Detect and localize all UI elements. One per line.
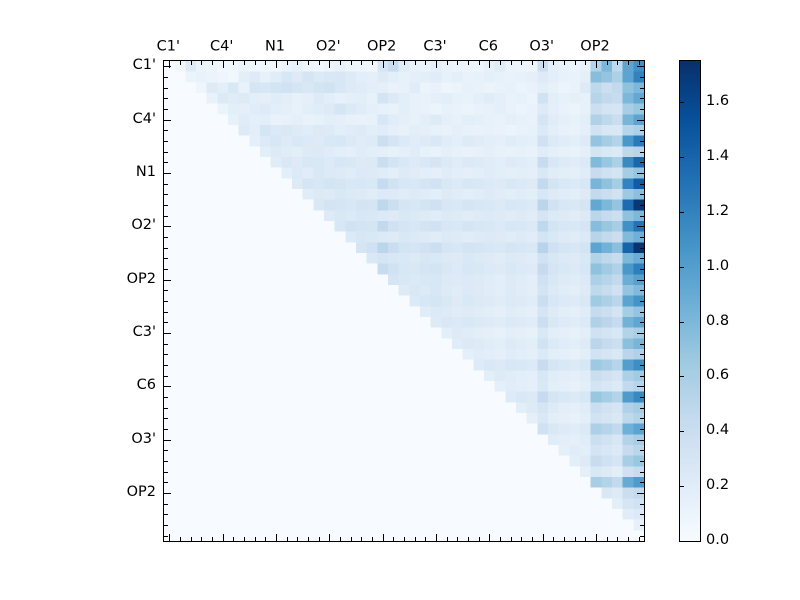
y-tick-label: C4' [133,111,156,126]
x-tick-label: C4' [210,40,233,55]
x-tick-label: OP2 [580,40,609,55]
colorbar-tick [680,157,684,158]
colorbar-tick-label: 0.0 [706,533,729,548]
colorbar-axes [679,60,701,542]
x-tick-label: C3' [423,40,446,55]
x-tick-label: C1' [157,40,180,55]
colorbar-tick-label: 0.8 [706,313,729,328]
y-tick-label: OP2 [127,271,156,286]
y-tick-label: C1' [133,58,156,73]
colorbar-tick [680,102,684,103]
colorbar-tick-label: 0.4 [706,423,729,438]
colorbar-tick-label: 0.6 [706,368,729,383]
colorbar-tick [680,431,684,432]
y-tick-label: C6 [137,378,156,393]
colorbar-tick [680,376,684,377]
x-tick-label: OP2 [367,40,396,55]
colorbar-tick [680,541,684,542]
colorbar-tick [680,486,684,487]
x-tick-label: N1 [265,40,285,55]
y-tick-label: C3' [133,325,156,340]
x-tick-label: C6 [479,40,498,55]
colorbar-tick [680,212,684,213]
colorbar-tick-label: 1.2 [706,204,729,219]
colorbar-tick [680,267,684,268]
colorbar-tick-label: 1.0 [706,258,729,273]
x-tick-label: O3' [529,40,554,55]
y-tick-label: O2' [131,218,156,233]
colorbar-tick [680,322,684,323]
colorbar-gradient [680,61,700,541]
figure-canvas: C1'C4'N1O2'OP2C3'C6O3'OP2 C1'C4'N1O2'OP2… [0,0,800,600]
colorbar-tick-label: 1.6 [706,94,729,109]
colorbar-tick-label: 0.2 [706,478,729,493]
y-tick-label: OP2 [127,485,156,500]
y-tick-label: N1 [136,165,156,180]
heatmap-axes [163,60,645,542]
colorbar-tick-label: 1.4 [706,149,729,164]
y-tick-label: O3' [131,431,156,446]
heatmap-image [164,61,644,541]
x-tick-label: O2' [316,40,341,55]
